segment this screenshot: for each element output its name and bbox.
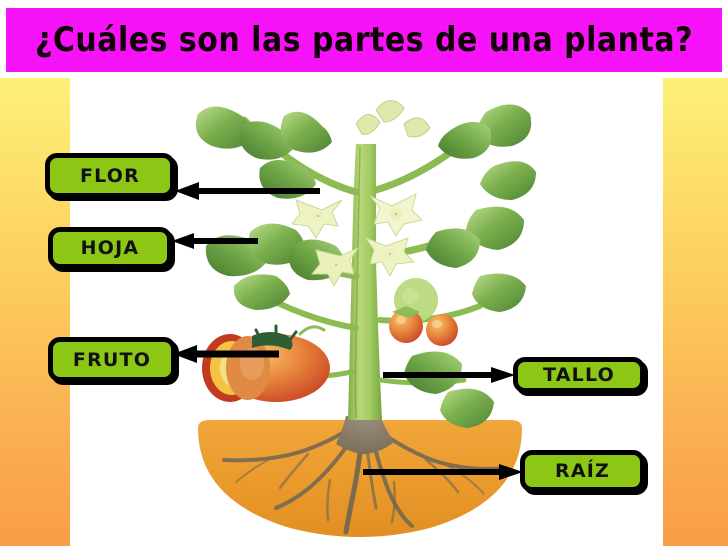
title-bar: ¿Cuáles son las partes de una planta? <box>6 8 722 72</box>
flower-buds <box>356 100 430 137</box>
callout-tallo-label: TALLO <box>543 364 615 386</box>
cut-tomato <box>202 326 330 402</box>
arrow-to-flor <box>175 182 320 200</box>
callout-hoja[interactable]: HOJA <box>48 227 172 269</box>
callout-flor[interactable]: FLOR <box>45 153 175 198</box>
arrow-to-raiz <box>363 464 523 480</box>
right-gradient-band <box>663 78 728 546</box>
fruit-on-plant <box>389 278 458 346</box>
callout-fruto[interactable]: FRUTO <box>48 337 176 382</box>
callout-hoja-label: HOJA <box>81 237 140 259</box>
callout-tallo[interactable]: TALLO <box>513 357 645 393</box>
left-gradient-band <box>0 78 70 546</box>
arrow-to-hoja <box>172 233 258 249</box>
slide-canvas: ¿Cuáles son las partes de una planta? <box>0 0 728 546</box>
callout-flor-label: FLOR <box>80 165 140 187</box>
main-stem <box>348 144 382 420</box>
arrow-to-tallo <box>383 367 515 383</box>
callout-raiz[interactable]: RAÍZ <box>520 450 645 492</box>
arrow-to-fruto <box>173 345 279 363</box>
callout-raiz-label: RAÍZ <box>555 460 610 482</box>
page-title: ¿Cuáles son las partes de una planta? <box>35 20 693 59</box>
callout-fruto-label: FRUTO <box>73 349 151 371</box>
